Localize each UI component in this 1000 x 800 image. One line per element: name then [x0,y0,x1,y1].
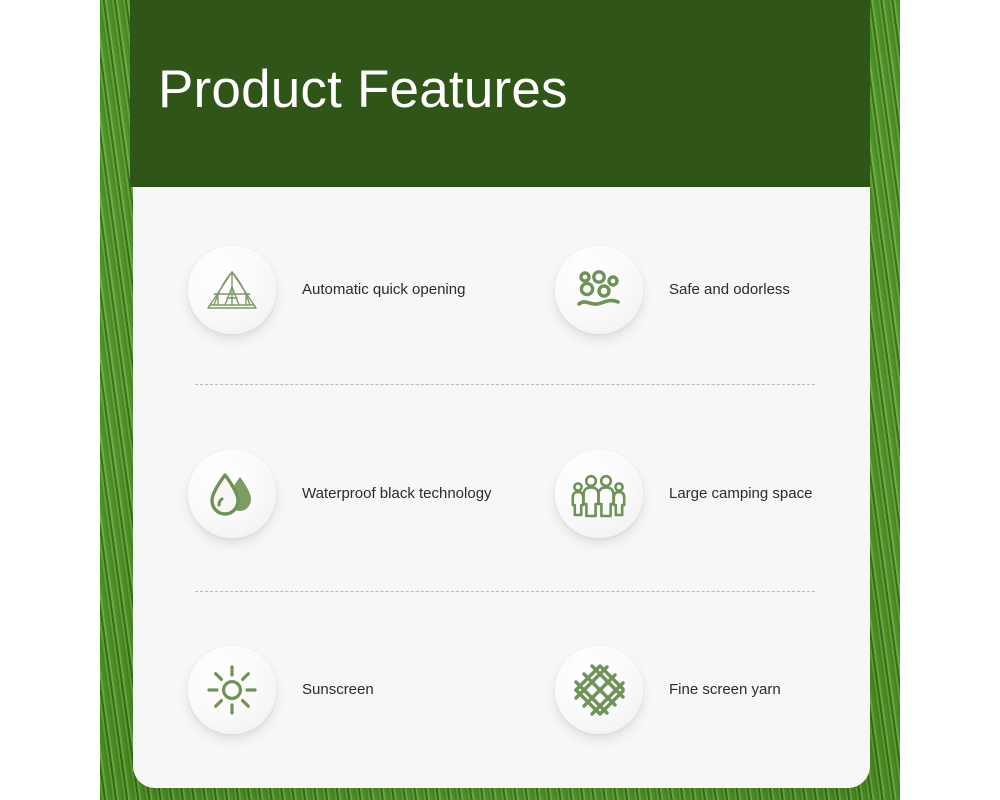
feature-label: Large camping space [669,485,812,503]
feature-icon-badge [188,450,276,538]
tent-icon [204,267,260,313]
features-card: Automatic quick opening [133,187,870,788]
feature-label: Safe and odorless [669,281,790,299]
feature-row: Sunscreen [133,605,870,775]
feature-item-large-camping-space[interactable]: Large camping space [503,409,870,579]
feature-item-sunscreen[interactable]: Sunscreen [133,605,503,775]
feature-grid: Automatic quick opening [133,187,870,788]
odor-bubbles-icon [572,266,626,314]
feature-item-safe-and-odorless[interactable]: Safe and odorless [503,205,870,375]
water-drop-icon [206,469,258,519]
feature-row: Automatic quick opening [133,205,870,375]
feature-icon-badge [555,450,643,538]
people-group-icon [570,469,628,519]
feature-item-automatic-quick-opening[interactable]: Automatic quick opening [133,205,503,375]
divider-row-1 [195,384,815,385]
feature-item-waterproof-black-technology[interactable]: Waterproof black technology [133,409,503,579]
feature-icon-badge [555,646,643,734]
mesh-weave-icon [571,662,627,718]
feature-icon-badge [188,646,276,734]
feature-label: Waterproof black technology [302,485,492,503]
feature-label: Automatic quick opening [302,281,465,299]
divider-row-2 [195,591,815,592]
feature-label: Sunscreen [302,681,374,699]
product-features-page: Product Features [0,0,1000,800]
feature-icon-badge [188,246,276,334]
page-title: Product Features [158,61,568,119]
feature-row: Waterproof black technology [133,409,870,579]
sun-icon [206,664,258,716]
feature-icon-badge [555,246,643,334]
feature-label: Fine screen yarn [669,681,781,699]
feature-item-fine-screen-yarn[interactable]: Fine screen yarn [503,605,870,775]
